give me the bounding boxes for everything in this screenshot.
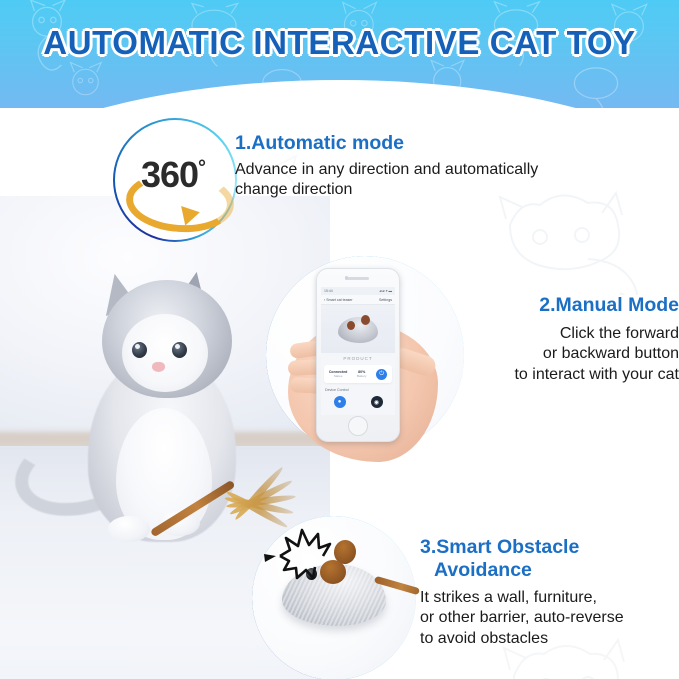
phone-screen: 15:44 ▰▰ ▾ ▬ ‹ Smart cat teaser Settings… [321, 287, 395, 415]
manual-mode-circle-ring: 15:44 ▰▰ ▾ ▬ ‹ Smart cat teaser Settings… [266, 256, 464, 454]
brand-label: PRODUCT [321, 353, 395, 363]
battery-cell: 80% Battery [357, 370, 367, 378]
degree-symbol: ° [198, 157, 205, 179]
feature-2-body-line-2: or backward button [465, 344, 679, 364]
status-icons: ▰▰ ▾ ▬ [379, 289, 392, 293]
smartphone-device: 15:44 ▰▰ ▾ ▬ ‹ Smart cat teaser Settings… [316, 268, 400, 442]
kitten-paw-left [108, 516, 150, 542]
page-title: AUTOMATIC INTERACTIVE CAT TOY [0, 24, 679, 62]
feature-3-heading: 3.Smart Obstacle Avoidance [420, 536, 679, 582]
hero-mouse-ear [347, 321, 355, 330]
kitten-eye-highlight-left [135, 344, 140, 349]
device-control-buttons: ● Start ◉ Forward [321, 394, 395, 415]
kitten-nose [152, 362, 165, 372]
power-button-icon[interactable]: ⏻ [376, 369, 387, 380]
connection-status-cell: Connected Status [329, 370, 348, 378]
forward-control[interactable]: ● Start [334, 396, 346, 415]
header-banner: AUTOMATIC INTERACTIVE CAT TOY [0, 0, 679, 108]
backward-icon[interactable]: ◉ [371, 396, 383, 408]
battery-label: Battery [357, 374, 367, 378]
phone-camera [345, 276, 349, 280]
feature-1-body: Advance in any direction and automatical… [235, 160, 605, 201]
badge-360-label: 360° [113, 154, 233, 196]
forward-icon[interactable]: ● [334, 396, 346, 408]
back-button[interactable]: ‹ Smart cat teaser [324, 298, 353, 302]
manual-mode-circle-inner: 15:44 ▰▰ ▾ ▬ ‹ Smart cat teaser Settings… [268, 258, 462, 452]
status-time: 15:44 [324, 289, 333, 293]
feature-2-body-line-3: to interact with your cat [465, 365, 679, 385]
feature-3-text: 3.Smart Obstacle Avoidance It strikes a … [420, 536, 679, 649]
feature-3-body-line-3: to avoid obstacles [420, 629, 679, 649]
badge-360-inner: 360° [115, 120, 235, 240]
watermark-cat-right [470, 185, 670, 295]
settings-button[interactable]: Settings [379, 298, 392, 302]
badge-360-ring: 360° [113, 118, 237, 242]
feature-2-body: Click the forward or backward button to … [465, 324, 679, 385]
obstacle-circle-ring [252, 516, 416, 679]
feature-1-heading: 1.Automatic mode [235, 132, 605, 155]
connection-status-label: Status [329, 374, 348, 378]
device-control-label: Device Control [321, 385, 395, 394]
feature-1-body-line-1: Advance in any direction and automatical… [235, 160, 605, 180]
feature-1-body-line-2: change direction [235, 180, 605, 200]
feature-2-text: 2.Manual Mode Click the forward or backw… [465, 294, 679, 385]
phone-home-button[interactable] [348, 416, 368, 436]
device-status-card: Connected Status 80% Battery ⏻ [324, 365, 392, 383]
feature-3-body-line-2: or other barrier, auto-reverse [420, 608, 679, 628]
feature-3-body: It strikes a wall, furniture, or other b… [420, 588, 679, 649]
status-bar: 15:44 ▰▰ ▾ ▬ [321, 287, 395, 295]
product-hero-image [321, 305, 395, 353]
feature-3-heading-line-1: 3.Smart Obstacle [420, 536, 579, 558]
hero-mouse-ear [361, 315, 370, 325]
app-navbar: ‹ Smart cat teaser Settings [321, 295, 395, 305]
impact-burst-icon [262, 526, 340, 590]
feature-3-body-line-1: It strikes a wall, furniture, [420, 588, 679, 608]
backward-control[interactable]: ◉ Forward [371, 396, 383, 415]
feature-2-heading: 2.Manual Mode [465, 294, 679, 317]
badge-360-value: 360 [141, 154, 198, 195]
kitten-eye-highlight-right [175, 344, 180, 349]
obstacle-circle-inner [254, 518, 414, 678]
feature-2-body-line-1: Click the forward [465, 324, 679, 344]
hero-mouse-body [338, 317, 378, 343]
phone-speaker [347, 277, 369, 280]
feature-3-heading-line-2: Avoidance [420, 559, 679, 582]
feature-1-text: 1.Automatic mode Advance in any directio… [235, 132, 605, 201]
wand-stick [150, 480, 236, 538]
infographic-page: AUTOMATIC INTERACTIVE CAT TOY [0, 0, 679, 679]
